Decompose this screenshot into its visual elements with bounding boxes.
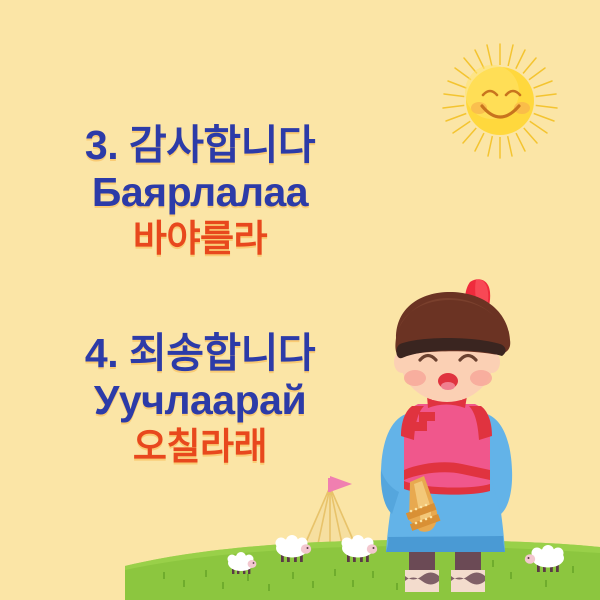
mongolian-boy — [381, 279, 512, 592]
phrase-3-mongolian: Баярлалаа — [0, 171, 400, 214]
boy-vest — [401, 392, 492, 495]
phrase-block-3: 3. 감사합니다 Баярлалаа 바야를라 — [0, 124, 400, 258]
phrase-4-mongolian: Уучлаарай — [0, 379, 400, 422]
infographic-card: 3. 감사합니다 Баярлалаа 바야를라 4. 죄송합니다 Уучлаар… — [0, 0, 600, 600]
phrase-3-transliteration: 바야를라 — [0, 219, 400, 258]
smiling-sun — [430, 36, 570, 166]
mongolian-hat — [395, 279, 510, 358]
phrase-4-transliteration: 오칠라래 — [0, 427, 400, 466]
phrase-3-korean: 3. 감사합니다 — [0, 124, 400, 167]
phrase-4-korean: 4. 죄송합니다 — [0, 332, 400, 375]
phrase-block-4: 4. 죄송합니다 Уучлаарай 오칠라래 — [0, 332, 400, 466]
